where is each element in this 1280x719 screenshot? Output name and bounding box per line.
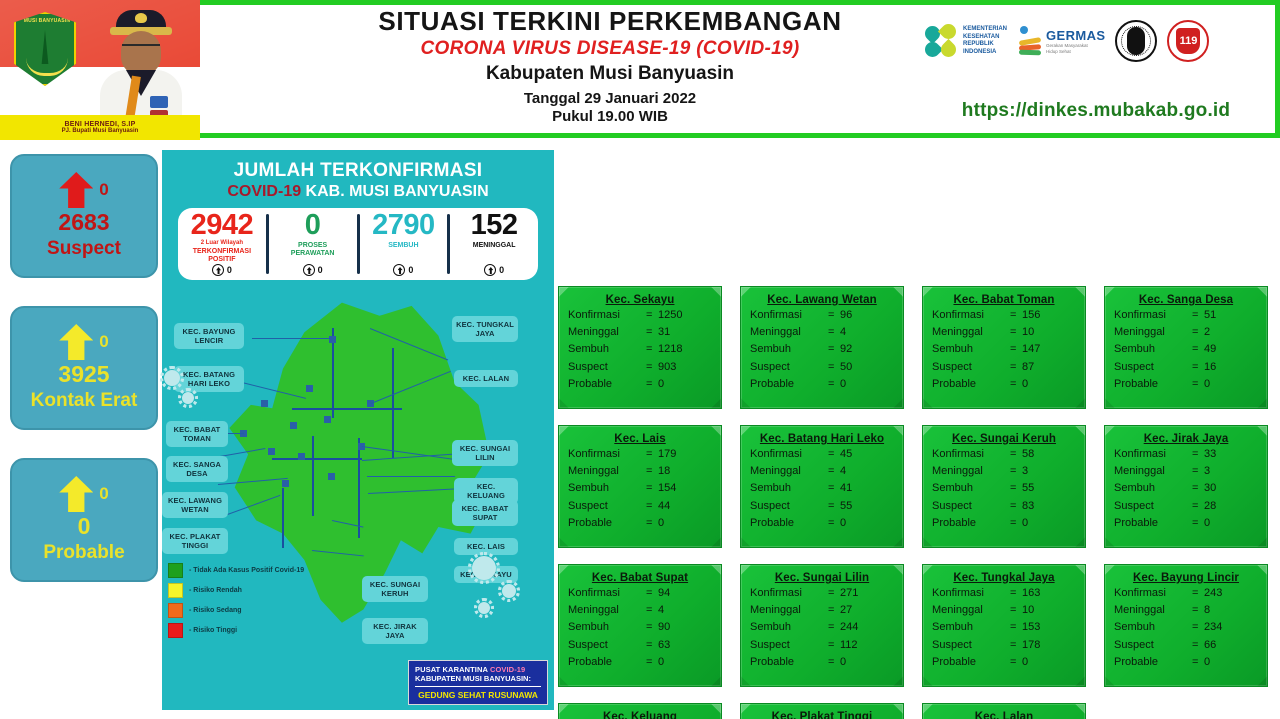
circle-arrow-up-icon (393, 264, 405, 276)
map-boundary (292, 408, 402, 410)
equals-sign: = (646, 464, 658, 480)
map-label-bayung-lencir[interactable]: KEC. BAYUNG LENCIR (174, 323, 244, 349)
district-stat-value: 55 (840, 499, 852, 515)
equals-sign: = (1192, 586, 1204, 602)
district-stat-row: Konfirmasi=51 (1105, 306, 1267, 323)
district-stat-value: 10 (1022, 603, 1034, 619)
surveilans-seal-icon (1115, 20, 1157, 62)
title-line-3: Kabupaten Musi Banyuasin (300, 63, 920, 85)
district-stat-row: Probable=0 (741, 515, 903, 532)
district-stat-key: Sembuh (750, 342, 828, 358)
district-stat-value: 10 (1022, 325, 1034, 341)
district-card[interactable]: Kec. Sungai LilinKonfirmasi=271Meninggal… (740, 564, 904, 687)
portrait-face (121, 31, 161, 75)
equals-sign: = (828, 655, 840, 671)
equals-sign: = (646, 308, 658, 324)
district-stat-value: 45 (840, 447, 852, 463)
equals-sign: = (1010, 655, 1022, 671)
report-date: Tanggal 29 Januari 2022 (300, 90, 920, 107)
district-stat-row: Probable=0 (1105, 654, 1267, 671)
district-name: Kec. Bayung Lincir (1105, 565, 1267, 584)
district-stat-key: Suspect (1114, 499, 1192, 515)
district-stat-key: Konfirmasi (1114, 308, 1192, 324)
district-stat-value: 0 (1022, 516, 1028, 532)
district-card[interactable]: Kec. Batang Hari LekoKonfirmasi=45Mening… (740, 425, 904, 548)
district-card[interactable]: Kec. Bayung LincirKonfirmasi=243Meningga… (1104, 564, 1268, 687)
kemenkes-logo-text: KEMENTERIANKESEHATANREPUBLIKINDONESIA (963, 26, 1007, 56)
equals-sign: = (646, 360, 658, 376)
district-stat-value: 2 (1204, 325, 1210, 341)
district-stat-row: Meninggal=8 (1105, 601, 1267, 618)
district-stat-value: 31 (658, 325, 670, 341)
terkonfirmasi-label-2: POSITIF (208, 256, 235, 263)
district-stat-key: Sembuh (568, 620, 646, 636)
district-stat-row: Suspect=87 (923, 358, 1085, 375)
district-stat-value: 3 (1022, 464, 1028, 480)
district-stat-key: Probable (568, 516, 646, 532)
district-stat-value: 8 (1204, 603, 1210, 619)
district-stat-value: 0 (658, 655, 664, 671)
district-stat-key: Meninggal (932, 325, 1010, 341)
district-stat-key: Probable (1114, 655, 1192, 671)
district-stat-value: 49 (1204, 342, 1216, 358)
district-stat-key: Probable (750, 655, 828, 671)
district-stat-value: 4 (840, 464, 846, 480)
emergency-119-logo-icon: 119 (1167, 20, 1209, 62)
district-stat-row: Meninggal=31 (559, 323, 721, 340)
district-stat-value: 55 (1022, 481, 1034, 497)
portrait-glasses (122, 44, 160, 53)
stat-card-suspect[interactable]: 0 2683 Suspect (10, 154, 158, 278)
district-stat-row: Konfirmasi=179 (559, 445, 721, 462)
legend-item: - Risiko Tinggi (168, 623, 368, 638)
district-stat-row: Probable=0 (923, 376, 1085, 393)
equals-sign: = (1192, 499, 1204, 515)
district-stat-row: Probable=0 (1105, 515, 1267, 532)
district-stat-key: Meninggal (568, 464, 646, 480)
district-stat-value: 234 (1204, 620, 1222, 636)
sembuh-delta-row: 0 (393, 264, 413, 280)
district-stat-value: 0 (840, 516, 846, 532)
equals-sign: = (646, 603, 658, 619)
equals-sign: = (1010, 325, 1022, 341)
legend-swatch-orange (168, 603, 183, 618)
district-stat-key: Probable (750, 516, 828, 532)
equals-sign: = (1010, 481, 1022, 497)
district-stat-row: Meninggal=27 (741, 601, 903, 618)
district-stat-row: Sembuh=55 (923, 480, 1085, 497)
legend-text: - Tidak Ada Kasus Positif Covid-19 (189, 567, 304, 574)
kontak-value: 3925 (58, 361, 109, 388)
terkonfirmasi-delta-row: 0 (212, 264, 232, 280)
district-name: Kec. Sungai Lilin (741, 565, 903, 584)
equals-sign: = (828, 499, 840, 515)
map-label-sungai-lilin[interactable]: KEC. SUNGAI LILIN (452, 440, 518, 466)
district-name: Kec. Lawang Wetan (741, 287, 903, 306)
map-marker (324, 416, 331, 423)
sembuh-delta: 0 (408, 265, 413, 275)
district-stat-key: Konfirmasi (750, 586, 828, 602)
district-stat-value: 0 (1204, 655, 1210, 671)
district-stat-value: 153 (1022, 620, 1040, 636)
crest-and-portrait-block: MUSI BANYUASIN BENI HERNEDI, S.IP PJ. Bu… (0, 0, 200, 140)
equals-sign: = (828, 325, 840, 341)
map-label-sanga-desa[interactable]: KEC. SANGA DESA (166, 456, 228, 482)
district-stat-key: Sembuh (1114, 481, 1192, 497)
district-stat-row: Sembuh=41 (741, 480, 903, 497)
germas-logo: GERMAS Gerakan MasyarakatHidup Sehat (1017, 26, 1105, 56)
district-name: Kec. Lalan (923, 704, 1085, 719)
suspect-delta: 0 (99, 180, 108, 200)
district-stat-value: 63 (658, 638, 670, 654)
district-stat-key: Probable (750, 377, 828, 393)
partner-logos: KEMENTERIANKESEHATANREPUBLIKINDONESIA GE… (925, 10, 1270, 72)
title-line-1: SITUASI TERKINI PERKEMBANGAN (300, 6, 920, 37)
emergency-119-number: 119 (1176, 28, 1200, 54)
district-stat-key: Sembuh (932, 481, 1010, 497)
equals-sign: = (828, 464, 840, 480)
district-stat-key: Sembuh (750, 481, 828, 497)
district-card[interactable]: Kec. SekayuKonfirmasi=1250Meninggal=31Se… (558, 286, 722, 409)
quarantine-venue: GEDUNG SEHAT RUSUNAWA (409, 690, 547, 700)
legend-item: - Risiko Rendah (168, 583, 368, 598)
virus-decoration-icon (502, 584, 516, 598)
equals-sign: = (828, 620, 840, 636)
district-stat-value: 112 (840, 638, 858, 654)
quarantine-line2: KABUPATEN MUSI BANYUASIN: (409, 674, 547, 683)
covid-dashboard-page: MUSI BANYUASIN BENI HERNEDI, S.IP PJ. Bu… (0, 0, 1280, 719)
district-stat-value: 0 (658, 516, 664, 532)
suspect-delta-row: 0 (59, 172, 108, 208)
title-line-2: CORONA VIRUS DISEASE-19 (COVID-19) (300, 38, 920, 60)
district-stat-value: 3 (1204, 464, 1210, 480)
district-stat-value: 156 (1022, 308, 1040, 324)
district-stat-key: Konfirmasi (932, 586, 1010, 602)
district-stat-value: 271 (840, 586, 858, 602)
district-card[interactable]: Kec. Tungkal JayaKonfirmasi=163Meninggal… (922, 564, 1086, 687)
stat-terkonfirmasi[interactable]: 2942 2 Luar Wilayah TERKONFIRMASIPOSITIF… (178, 208, 266, 280)
sembuh-number: 2790 (372, 211, 435, 240)
district-stat-key: Suspect (932, 638, 1010, 654)
district-stat-row: Probable=0 (923, 515, 1085, 532)
district-stat-row: Sembuh=1218 (559, 341, 721, 358)
germas-tagline: Gerakan MasyarakatHidup Sehat (1046, 43, 1105, 54)
website-url[interactable]: https://dinkes.mubakab.go.id (920, 100, 1272, 122)
kemenkes-logo: KEMENTERIANKESEHATANREPUBLIKINDONESIA (925, 24, 1007, 58)
equals-sign: = (828, 308, 840, 324)
district-stat-row: Probable=0 (559, 376, 721, 393)
arrow-up-yellow-icon (59, 476, 93, 512)
district-stat-key: Konfirmasi (750, 447, 828, 463)
kontak-delta: 0 (99, 332, 108, 352)
map-label-babat-toman[interactable]: KEC. BABAT TOMAN (166, 421, 228, 447)
district-stat-key: Probable (1114, 377, 1192, 393)
map-marker (290, 422, 297, 429)
probable-value: 0 (78, 513, 91, 540)
district-stat-row: Suspect=178 (923, 636, 1085, 653)
map-leader-line (367, 476, 455, 477)
district-stat-value: 147 (1022, 342, 1040, 358)
district-stat-key: Meninggal (1114, 325, 1192, 341)
germas-figure-icon (1017, 26, 1043, 56)
district-name: Kec. Babat Supat (559, 565, 721, 584)
district-stat-value: 4 (658, 603, 664, 619)
perawatan-delta-row: 0 (303, 264, 323, 280)
district-name: Kec. Keluang (559, 704, 721, 719)
district-stat-key: Meninggal (932, 464, 1010, 480)
district-stat-value: 1250 (658, 308, 682, 324)
meninggal-number: 152 (471, 211, 518, 240)
district-stat-value: 28 (1204, 499, 1216, 515)
district-stat-value: 0 (1022, 377, 1028, 393)
meninggal-delta: 0 (499, 265, 504, 275)
circle-arrow-up-icon (484, 264, 496, 276)
district-stat-row: Konfirmasi=33 (1105, 445, 1267, 462)
district-card[interactable]: Kec. KeluangKonfirmasi=110Meninggal=14Se… (558, 703, 722, 719)
district-stat-key: Suspect (1114, 638, 1192, 654)
virus-decoration-icon (182, 392, 194, 404)
district-stat-value: 50 (840, 360, 852, 376)
district-stat-row: Sembuh=147 (923, 341, 1085, 358)
district-stat-row: Konfirmasi=156 (923, 306, 1085, 323)
district-stat-key: Sembuh (1114, 620, 1192, 636)
probable-delta: 0 (99, 484, 108, 504)
map-leader-line (252, 338, 330, 339)
map-marker (306, 385, 313, 392)
equals-sign: = (1010, 603, 1022, 619)
legend-item: - Tidak Ada Kasus Positif Covid-19 (168, 563, 368, 578)
map-boundary (358, 438, 360, 538)
stat-meninggal[interactable]: 152 MENINGGAL 0 (450, 208, 538, 280)
terkonfirmasi-extra: 2 Luar Wilayah (201, 240, 243, 246)
map-legend: - Tidak Ada Kasus Positif Covid-19 - Ris… (168, 563, 368, 643)
district-card[interactable]: Kec. Jirak JayaKonfirmasi=33Meninggal=3S… (1104, 425, 1268, 548)
district-stat-row: Sembuh=49 (1105, 341, 1267, 358)
district-stat-key: Meninggal (1114, 603, 1192, 619)
district-stat-value: 1218 (658, 342, 682, 358)
district-stat-key: Meninggal (750, 603, 828, 619)
district-stat-row: Suspect=63 (559, 636, 721, 653)
perawatan-number: 0 (305, 211, 321, 240)
district-stat-row: Suspect=50 (741, 358, 903, 375)
equals-sign: = (1192, 377, 1204, 393)
equals-sign: = (646, 377, 658, 393)
official-name-bar: BENI HERNEDI, S.IP PJ. Bupati Musi Banyu… (0, 115, 200, 140)
map-marker (268, 448, 275, 455)
district-card[interactable]: Kec. LaisKonfirmasi=179Meninggal=18Sembu… (558, 425, 722, 548)
district-stat-key: Konfirmasi (1114, 586, 1192, 602)
legend-swatch-red (168, 623, 183, 638)
legend-swatch-yellow (168, 583, 183, 598)
district-stat-key: Suspect (568, 360, 646, 376)
map-label-jirak-jaya[interactable]: KEC. JIRAK JAYA (362, 618, 428, 644)
stat-card-kontak-erat[interactable]: 0 3925 Kontak Erat (10, 306, 158, 430)
district-stat-row: Suspect=903 (559, 358, 721, 375)
district-card[interactable]: Kec. LalanKonfirmasi=35Meninggal=2Sembuh… (922, 703, 1086, 719)
district-stat-value: 18 (658, 464, 670, 480)
district-stat-key: Meninggal (1114, 464, 1192, 480)
district-stat-key: Suspect (750, 360, 828, 376)
district-name: Kec. Babat Toman (923, 287, 1085, 306)
map-marker (298, 453, 305, 460)
legend-swatch-green (168, 563, 183, 578)
equals-sign: = (828, 360, 840, 376)
terkonfirmasi-label: TERKONFIRMASIPOSITIF (193, 248, 251, 264)
official-name: BENI HERNEDI, S.IP (65, 121, 136, 128)
district-card[interactable]: Kec. Lawang WetanKonfirmasi=96Meninggal=… (740, 286, 904, 409)
district-stat-row: Sembuh=92 (741, 341, 903, 358)
map-label-lalan[interactable]: KEC. LALAN (454, 370, 518, 387)
district-stat-value: 66 (1204, 638, 1216, 654)
district-stat-value: 16 (1204, 360, 1216, 376)
district-stat-value: 58 (1022, 447, 1034, 463)
district-stat-key: Sembuh (1114, 342, 1192, 358)
district-stat-row: Sembuh=90 (559, 619, 721, 636)
district-stat-key: Meninggal (568, 325, 646, 341)
district-name: Kec. Sungai Keruh (923, 426, 1085, 445)
district-stat-row: Konfirmasi=1250 (559, 306, 721, 323)
legend-text: - Risiko Sedang (189, 607, 242, 614)
district-stat-row: Sembuh=153 (923, 619, 1085, 636)
germas-wordmark: GERMAS (1046, 28, 1105, 43)
main-title-line2: COVID-19 KAB. MUSI BANYUASIN (162, 183, 554, 201)
equals-sign: = (1010, 516, 1022, 532)
equals-sign: = (646, 342, 658, 358)
equals-sign: = (1192, 620, 1204, 636)
district-name: Kec. Tungkal Jaya (923, 565, 1085, 584)
district-name: Kec. Jirak Jaya (1105, 426, 1267, 445)
district-card[interactable]: Kec. Babat SupatKonfirmasi=94Meninggal=4… (558, 564, 722, 687)
equals-sign: = (646, 638, 658, 654)
district-stat-value: 0 (840, 655, 846, 671)
quarantine-covid-word: COVID-19 (490, 665, 525, 674)
district-card[interactable]: Kec. Sungai KeruhKonfirmasi=58Meninggal=… (922, 425, 1086, 548)
district-stat-row: Meninggal=4 (741, 462, 903, 479)
district-stat-row: Probable=0 (741, 376, 903, 393)
district-card[interactable]: Kec. Sanga DesaKonfirmasi=51Meninggal=2S… (1104, 286, 1268, 409)
main-panel-title: JUMLAH TERKONFIRMASI COVID-19 KAB. MUSI … (162, 160, 554, 201)
summary-stat-strip: 2942 2 Luar Wilayah TERKONFIRMASIPOSITIF… (178, 208, 538, 280)
equals-sign: = (1010, 586, 1022, 602)
map-marker (282, 480, 289, 487)
district-card[interactable]: Kec. Babat TomanKonfirmasi=156Meninggal=… (922, 286, 1086, 409)
seal-ring (1121, 26, 1151, 56)
map-label-sungai-keruh[interactable]: KEC. SUNGAI KERUH (362, 576, 428, 602)
map-label-tungkal-jaya[interactable]: KEC. TUNGKAL JAYA (452, 316, 518, 342)
terkonfirmasi-label-1: TERKONFIRMASI (193, 248, 251, 255)
district-stat-key: Probable (568, 377, 646, 393)
stat-proses-perawatan[interactable]: 0 PROSESPERAWATAN 0 (269, 208, 357, 280)
district-stat-key: Meninggal (932, 603, 1010, 619)
district-stat-row: Suspect=55 (741, 497, 903, 514)
body-area: 0 2683 Suspect 0 3925 Kontak Erat 0 0 Pr… (0, 140, 1280, 719)
district-stat-key: Konfirmasi (750, 308, 828, 324)
district-stat-value: 163 (1022, 586, 1040, 602)
district-stat-row: Konfirmasi=96 (741, 306, 903, 323)
suspect-label: Suspect (47, 238, 121, 260)
district-stat-key: Meninggal (750, 464, 828, 480)
equals-sign: = (828, 586, 840, 602)
map-label-plakat-tinggi[interactable]: KEC. PLAKAT TINGGI (162, 528, 228, 554)
district-stat-row: Suspect=44 (559, 497, 721, 514)
equals-sign: = (1010, 499, 1022, 515)
report-time: Pukul 19.00 WIB (300, 108, 920, 125)
district-stat-row: Probable=0 (559, 654, 721, 671)
district-stat-row: Konfirmasi=94 (559, 584, 721, 601)
district-stat-key: Sembuh (750, 620, 828, 636)
equals-sign: = (1010, 308, 1022, 324)
district-stat-key: Suspect (750, 638, 828, 654)
equals-sign: = (1010, 620, 1022, 636)
suspect-value: 2683 (58, 209, 109, 236)
stat-card-probable[interactable]: 0 0 Probable (10, 458, 158, 582)
district-stat-value: 87 (1022, 360, 1034, 376)
district-stat-key: Konfirmasi (568, 447, 646, 463)
district-stat-value: 30 (1204, 481, 1216, 497)
equals-sign: = (646, 481, 658, 497)
district-stat-row: Meninggal=3 (1105, 462, 1267, 479)
district-stat-key: Konfirmasi (932, 447, 1010, 463)
district-stat-value: 178 (1022, 638, 1040, 654)
stat-sembuh[interactable]: 2790 SEMBUH 0 (360, 208, 448, 280)
virus-decoration-icon (164, 370, 180, 386)
district-stat-row: Meninggal=10 (923, 601, 1085, 618)
district-stat-key: Suspect (750, 499, 828, 515)
equals-sign: = (1192, 308, 1204, 324)
district-stat-key: Sembuh (568, 342, 646, 358)
district-name: Kec. Lais (559, 426, 721, 445)
district-stat-key: Sembuh (568, 481, 646, 497)
district-stat-key: Suspect (568, 638, 646, 654)
equals-sign: = (1010, 447, 1022, 463)
district-stat-key: Suspect (932, 360, 1010, 376)
district-stat-value: 27 (840, 603, 852, 619)
arrow-up-yellow-icon (59, 324, 93, 360)
district-stat-key: Suspect (1114, 360, 1192, 376)
district-stat-value: 4 (840, 325, 846, 341)
district-name: Kec. Sekayu (559, 287, 721, 306)
perawatan-delta: 0 (318, 265, 323, 275)
district-stat-value: 94 (658, 586, 670, 602)
germas-logo-text: GERMAS Gerakan MasyarakatHidup Sehat (1046, 28, 1105, 54)
district-card[interactable]: Kec. Plakat TinggiKonfirmasi=165Meningga… (740, 703, 904, 719)
map-label-lawang-wetan[interactable]: KEC. LAWANG WETAN (162, 492, 228, 518)
equals-sign: = (828, 377, 840, 393)
equals-sign: = (828, 342, 840, 358)
district-stat-value: 41 (840, 481, 852, 497)
portrait-hat-emblem-icon (135, 13, 147, 23)
district-stat-row: Meninggal=2 (1105, 323, 1267, 340)
district-stat-value: 244 (840, 620, 858, 636)
equals-sign: = (828, 516, 840, 532)
district-stat-row: Suspect=83 (923, 497, 1085, 514)
district-stat-key: Suspect (932, 499, 1010, 515)
district-stat-row: Probable=0 (559, 515, 721, 532)
equals-sign: = (1192, 342, 1204, 358)
official-portrait (88, 4, 192, 128)
perawatan-label-2: PERAWATAN (291, 250, 335, 257)
portrait-medal-blue (150, 96, 168, 108)
covid-word: COVID-19 (227, 183, 301, 200)
map-label-babat-supat[interactable]: KEC. BABAT SUPAT (452, 500, 518, 526)
district-name: Kec. Batang Hari Leko (741, 426, 903, 445)
district-stat-row: Suspect=16 (1105, 358, 1267, 375)
equals-sign: = (1010, 342, 1022, 358)
district-stat-key: Probable (932, 655, 1010, 671)
official-role: PJ. Bupati Musi Banyuasin (62, 128, 139, 134)
arrow-up-red-icon (59, 172, 93, 208)
kontak-delta-row: 0 (59, 324, 108, 360)
